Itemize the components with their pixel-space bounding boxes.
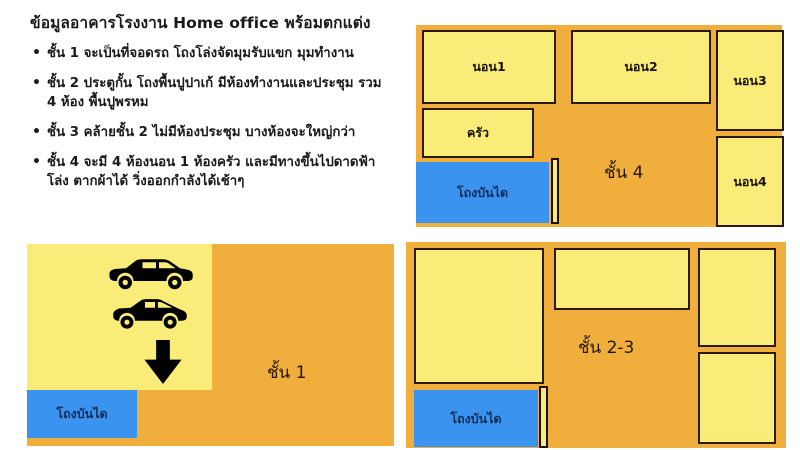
door-icon	[539, 386, 548, 448]
room-2-3-top-middle	[554, 248, 690, 310]
info-text-panel: ข้อมูลอาคารโรงงาน Home office พร้อมตกแต่…	[0, 0, 400, 236]
room-bedroom-4: นอน4	[716, 136, 784, 227]
room-bedroom-3: นอน3	[716, 30, 784, 131]
door-icon	[551, 158, 559, 224]
room-label: นอน4	[733, 172, 766, 192]
room-label: นอน2	[624, 57, 657, 77]
stairwell-floor-1: โถงบันได	[27, 390, 137, 438]
room-bedroom-1: นอน1	[422, 30, 556, 104]
room-kitchen: ครัว	[422, 108, 534, 158]
down-arrow-icon	[143, 340, 183, 385]
parking-area	[27, 244, 212, 390]
stairwell-floor-4: โถงบันได	[416, 162, 549, 223]
floorplan-floor-4: นอน1 นอน2 นอน3 นอน4 ครัว โถงบันได ชั้น 4	[416, 25, 782, 227]
list-item: ชั้น 1 จะเป็นที่จอดรถ โถงโล่งจัดมุมรับแข…	[30, 45, 390, 64]
page-title: ข้อมูลอาคารโรงงาน Home office พร้อมตกแต่…	[30, 14, 390, 33]
room-label: นอน1	[472, 57, 505, 77]
car-sedan-icon	[105, 256, 195, 294]
room-label: นอน3	[733, 71, 766, 91]
floor-label-4: ชั้น 4	[604, 159, 643, 186]
floorplan-floor-2-3: โถงบันได ชั้น 2-3	[406, 242, 786, 448]
floor-label-2-3: ชั้น 2-3	[578, 334, 634, 361]
room-label: ครัว	[467, 123, 489, 143]
car-hatchback-icon	[110, 297, 190, 333]
floor-label-1: ชั้น 1	[267, 359, 306, 386]
stairwell-floor-2-3: โถงบันได	[414, 390, 538, 447]
room-2-3-top-right	[698, 248, 776, 347]
list-item: ชั้น 4 จะมี 4 ห้องนอน 1 ห้องครัว และมีทา…	[30, 154, 390, 192]
room-2-3-left	[414, 248, 544, 384]
room-bedroom-2: นอน2	[571, 30, 711, 104]
floorplan-floor-1: โถงบันได ชั้น 1	[27, 244, 394, 446]
stairwell-label: โถงบันได	[56, 404, 107, 424]
floor-description-list: ชั้น 1 จะเป็นที่จอดรถ โถงโล่งจัดมุมรับแข…	[30, 45, 390, 191]
stairwell-label: โถงบันได	[457, 183, 508, 203]
list-item: ชั้น 3 คล้ายชั้น 2 ไม่มีห้องประชุม บางห้…	[30, 124, 390, 143]
list-item: ชั้น 2 ประตูกั้น โถงพื้นปูปาเก้ มีห้องทำ…	[30, 75, 390, 113]
stairwell-label: โถงบันได	[450, 409, 501, 429]
room-2-3-bottom-right	[698, 352, 776, 444]
